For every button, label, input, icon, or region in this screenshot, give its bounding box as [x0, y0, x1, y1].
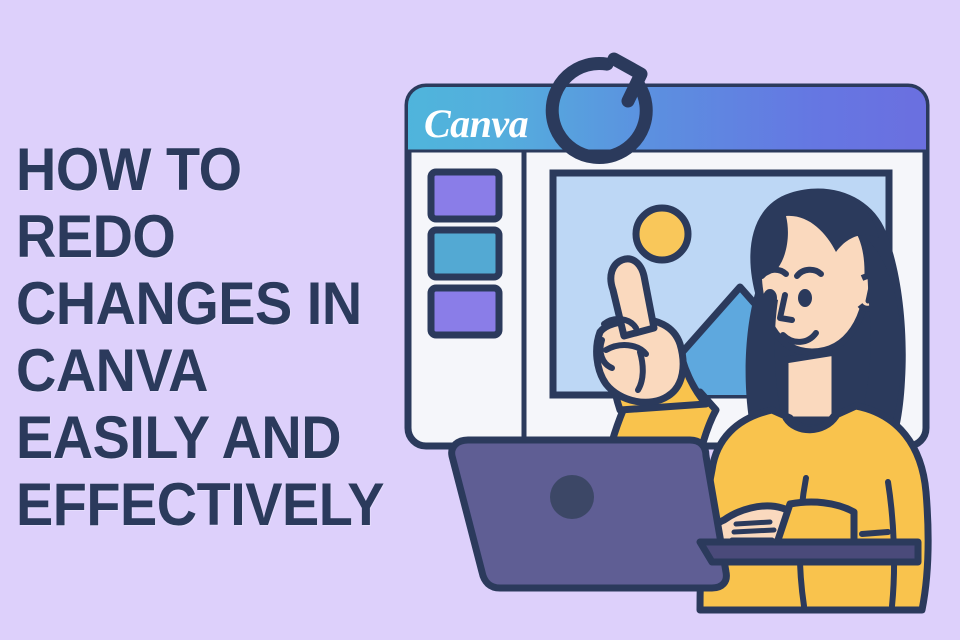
laptop-lid[interactable]: [452, 440, 727, 588]
thumbnail-1[interactable]: [431, 172, 499, 219]
thumbnail-3[interactable]: [431, 288, 499, 335]
poster-canvas: HOW TO REDO CHANGES IN CANVA EASILY AND …: [0, 0, 960, 640]
eye-right: [798, 289, 812, 307]
canva-logo-text: Canva: [424, 101, 529, 146]
laptop-base: [700, 542, 918, 562]
sun-icon: [636, 208, 688, 260]
sidebar-thumbnails[interactable]: [431, 172, 499, 335]
laptop-logo-icon: [550, 475, 594, 519]
neck: [785, 352, 835, 420]
illustration: Canva: [0, 0, 960, 640]
finger-line-1: [736, 522, 770, 524]
finger-line-2: [734, 530, 774, 532]
thumbnail-2[interactable]: [431, 230, 499, 277]
sleeve-cuff-line: [862, 532, 888, 534]
